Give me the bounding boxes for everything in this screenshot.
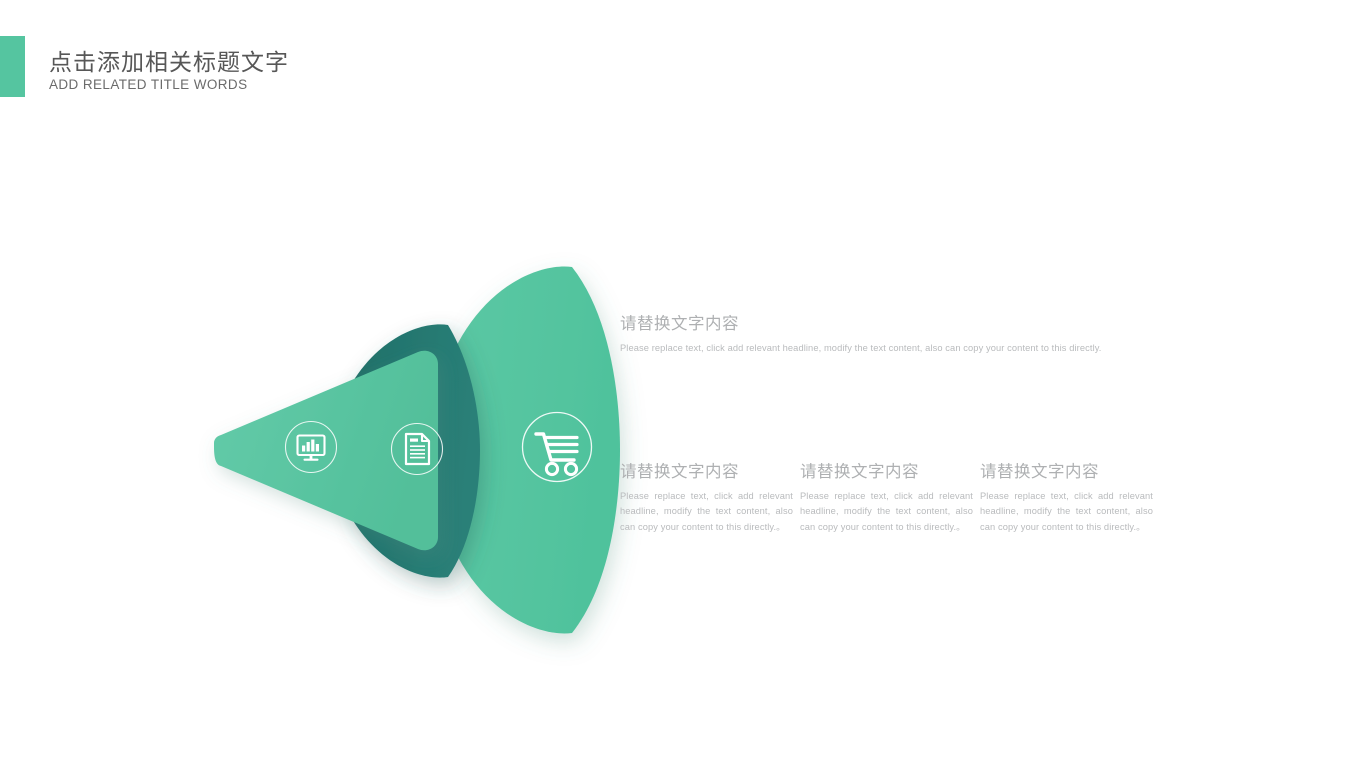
column-body: Please replace text, click add relevant …: [800, 489, 973, 535]
text-column-3: 请替换文字内容 Please replace text, click add r…: [980, 458, 1153, 535]
funnel-diagram: [190, 255, 640, 655]
page-title: 点击添加相关标题文字: [49, 43, 289, 77]
top-block-heading: 请替换文字内容: [620, 310, 1150, 334]
column-heading: 请替换文字内容: [980, 458, 1153, 482]
funnel-stage-1[interactable]: [214, 351, 438, 551]
column-body: Please replace text, click add relevant …: [980, 489, 1153, 535]
top-text-block: 请替换文字内容 Please replace text, click add r…: [620, 310, 1150, 356]
top-block-body: Please replace text, click add relevant …: [620, 341, 1150, 356]
page-subtitle: ADD RELATED TITLE WORDS: [49, 77, 247, 92]
slide-canvas: 点击添加相关标题文字 ADD RELATED TITLE WORDS: [0, 0, 1350, 759]
column-body: Please replace text, click add relevant …: [620, 489, 793, 535]
title-accent-bar: [0, 36, 25, 97]
text-column-2: 请替换文字内容 Please replace text, click add r…: [800, 458, 973, 535]
column-heading: 请替换文字内容: [620, 458, 793, 482]
text-column-1: 请替换文字内容 Please replace text, click add r…: [620, 458, 793, 535]
column-heading: 请替换文字内容: [800, 458, 973, 482]
